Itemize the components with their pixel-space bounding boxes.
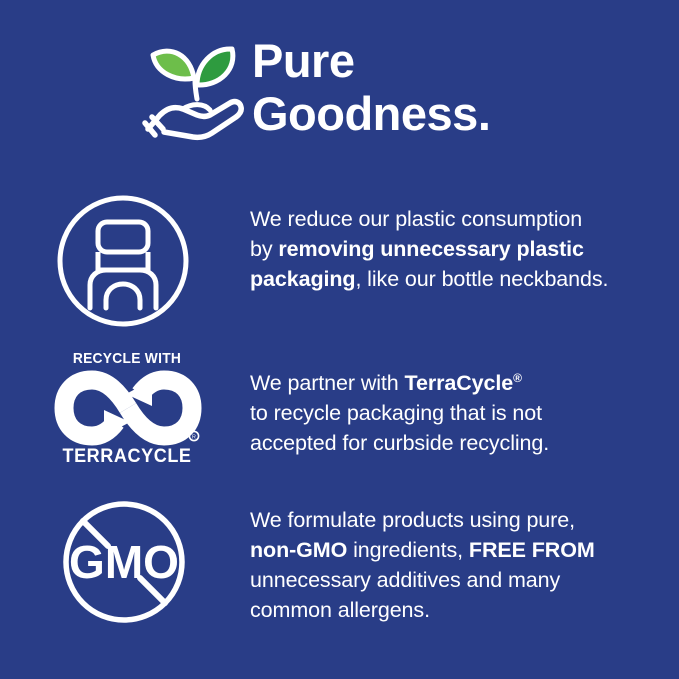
infinity-recycle-icon: R (54, 372, 202, 444)
copy-line: by removing unnecessary plastic (250, 234, 665, 264)
copy-line: We reduce our plastic consumption (250, 204, 665, 234)
feature-row-plastic: We reduce our plastic consumptionby remo… (0, 190, 679, 335)
hand-holding-sprout-icon (142, 33, 254, 143)
copy-line: We formulate products using pure, (250, 505, 665, 535)
copy-line: unnecessary additives and many (250, 565, 665, 595)
feature-copy-plastic: We reduce our plastic consumptionby remo… (250, 204, 665, 294)
bottle-neckband-circle-icon (52, 190, 202, 335)
page-title: Pure Goodness. (252, 34, 652, 140)
gmo-label: GMO (69, 536, 179, 588)
header: Pure Goodness. (0, 0, 679, 175)
headline-line-2: Goodness. (252, 87, 652, 140)
copy-line: We partner with TerraCycle® (250, 363, 665, 398)
feature-copy-terracycle: We partner with TerraCycle®to recycle pa… (250, 363, 665, 458)
headline-line-1: Pure (252, 34, 652, 87)
feature-row-gmo: GMO We formulate products using pure,non… (0, 492, 679, 642)
terracycle-bottom-label: TERRACYCLE (56, 446, 199, 468)
no-gmo-circle-icon: GMO (52, 492, 202, 642)
registered-trademark-mark: ® (513, 371, 522, 385)
copy-line: accepted for curbside recycling. (250, 428, 665, 458)
copy-line: non-GMO ingredients, FREE FROM (250, 535, 665, 565)
copy-line: to recycle packaging that is not (250, 398, 665, 428)
terracycle-top-label: RECYCLE WITH (58, 350, 196, 367)
copy-line: common allergens. (250, 595, 665, 625)
svg-text:R: R (192, 435, 196, 441)
feature-copy-gmo: We formulate products using pure,non-GMO… (250, 505, 665, 625)
pure-goodness-infographic: Pure Goodness. We reduce our plastic con… (0, 0, 679, 679)
copy-line: packaging, like our bottle neckbands. (250, 264, 665, 294)
feature-row-terracycle: RECYCLE WITH (0, 348, 679, 478)
terracycle-infinity-logo: RECYCLE WITH (52, 348, 202, 478)
